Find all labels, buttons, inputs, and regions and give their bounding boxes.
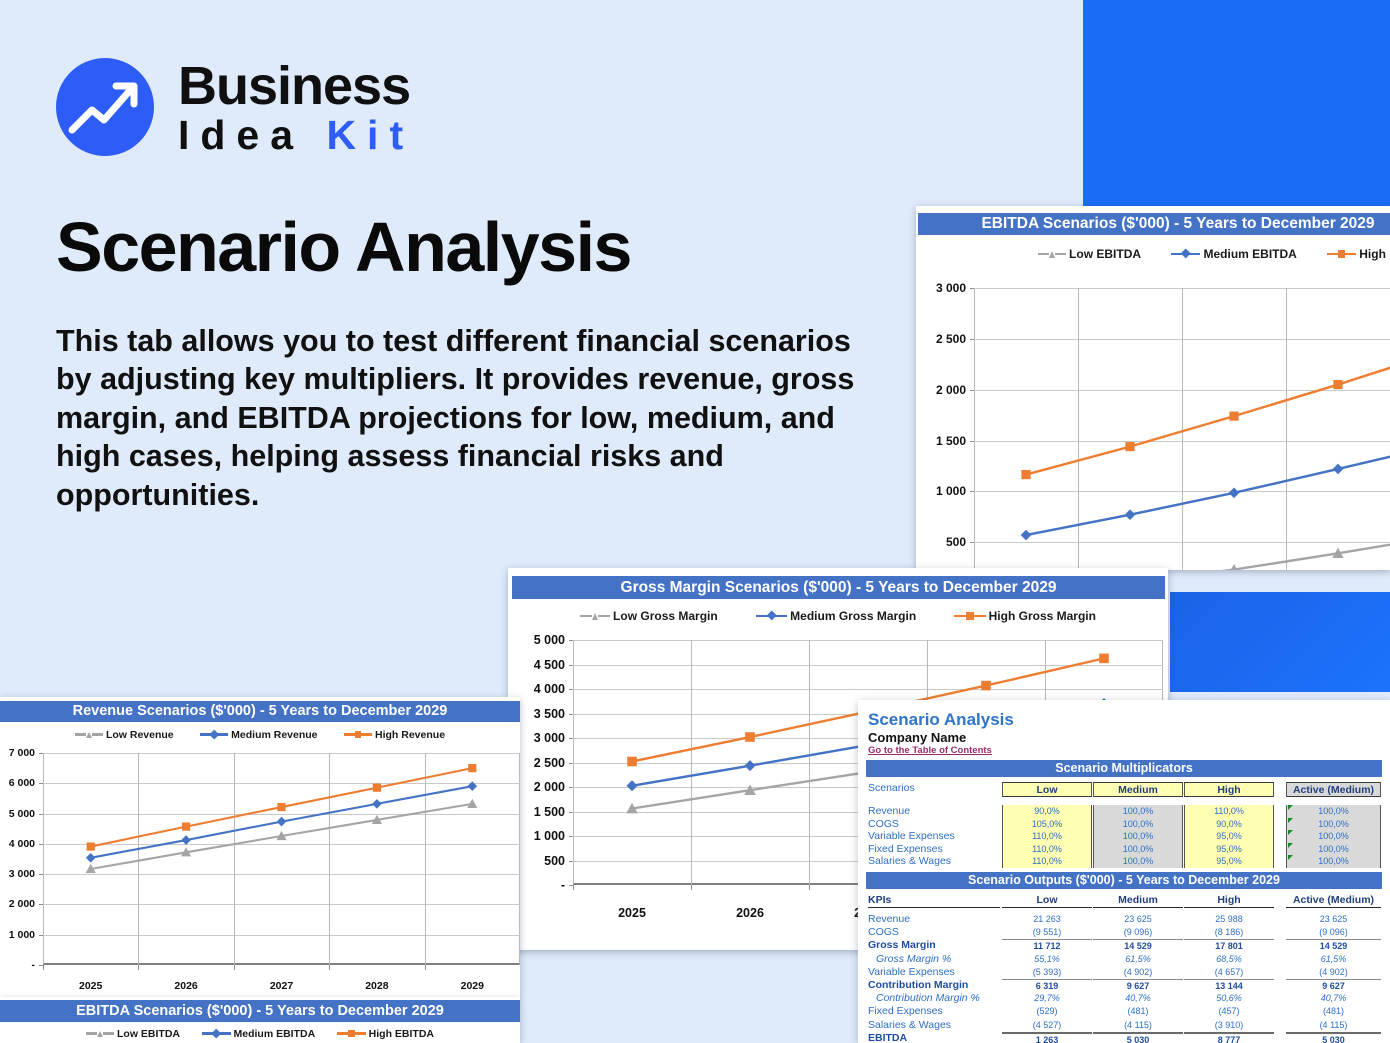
chart-legend: Low EBITDAMedium EBITDAHigh EBITDA [20, 1026, 500, 1041]
chart-title: EBITDA Scenarios ($'000) - 5 Years to De… [918, 213, 1390, 235]
output-cell-medium: (481) [1093, 1005, 1183, 1018]
kpis-label: KPIs [868, 894, 1000, 908]
output-cell-high: 25 988 [1184, 913, 1274, 926]
x-axis-tick [691, 885, 692, 890]
chart-panel-revenue: Revenue Scenarios ($'000) - 5 Years to D… [0, 697, 520, 997]
multiplier-cell-active: 100,0% [1286, 843, 1381, 856]
multiplier-cell-low[interactable]: 110,0% [1002, 843, 1092, 856]
y-axis-tick-label: 3 000 [918, 281, 966, 295]
x-axis-tick [573, 885, 574, 890]
sheet-company-name: Company Name [868, 730, 966, 745]
row-label: COGS [868, 926, 899, 939]
output-cell-high: (8 186) [1184, 926, 1274, 939]
table-row: Contribution Margin %29,7%40,7%50,6%40,7… [858, 992, 1390, 1005]
output-cell-medium: 5 030 [1093, 1032, 1183, 1043]
multiplier-cell-high[interactable]: 90,0% [1184, 818, 1274, 831]
output-cell-active: 14 529 [1286, 939, 1381, 953]
scenario-outputs-band: Scenario Outputs ($'000) - 5 Years to De… [866, 872, 1382, 889]
x-axis-tick-label: 2029 [461, 980, 484, 992]
row-label: COGS [868, 818, 899, 831]
legend-label: High EBITDA [369, 1028, 434, 1040]
y-axis-tick-label: 2 000 [918, 383, 966, 397]
column-header-high: High [1184, 894, 1274, 908]
output-cell-medium: 61,5% [1093, 953, 1183, 966]
table-row: Variable Expenses110,0%100,0%95,0%100,0% [858, 830, 1390, 843]
row-label: Gross Margin [868, 939, 936, 952]
table-of-contents-link[interactable]: Go to the Table of Contents [868, 745, 992, 756]
row-label: Contribution Margin % [876, 992, 980, 1005]
table-row: Fixed Expenses(529)(481)(457)(481) [858, 1005, 1390, 1018]
legend-line-swatch [103, 1032, 114, 1035]
scenario-analysis-sheet: Scenario Analysis Company Name Go to the… [858, 700, 1390, 1043]
decor-block-middle-right [1170, 592, 1390, 692]
legend-item: Medium Gross Margin [756, 609, 916, 623]
legend-line-swatch [1327, 253, 1338, 256]
y-axis-tick-label: 4 000 [2, 838, 35, 850]
scenarios-label: Scenarios [868, 782, 915, 795]
chart-plot-area: -5001 0001 5002 0002 5003 00020252026202… [974, 288, 1390, 570]
multiplier-cell-high[interactable]: 95,0% [1184, 843, 1274, 856]
table-row: Variable Expenses(5 393)(4 902)(4 657)(4… [858, 966, 1390, 979]
y-axis-tick-label: 2 500 [918, 332, 966, 346]
output-cell-low: 29,7% [1002, 992, 1092, 1005]
table-header-row: ScenariosLowMediumHighActive (Medium) [858, 782, 1390, 799]
output-cell-high: 50,6% [1184, 992, 1274, 1005]
legend-label: High EBITDA [1359, 247, 1390, 261]
legend-line-swatch [92, 733, 103, 736]
legend-item: Low EBITDA [86, 1028, 180, 1040]
table-row: COGS(9 551)(9 096)(8 186)(9 096) [858, 926, 1390, 939]
legend-marker-diamond [212, 1029, 221, 1038]
y-axis-tick-label: 6 000 [2, 777, 35, 789]
output-cell-high: 17 801 [1184, 939, 1274, 953]
output-cell-high: (457) [1184, 1005, 1274, 1018]
y-axis-tick-label: 4 000 [510, 682, 565, 696]
column-header-low: Low [1002, 894, 1092, 908]
column-header-low: Low [1002, 782, 1092, 797]
legend-marker-diamond [766, 611, 777, 622]
page-title: Scenario Analysis [56, 207, 631, 287]
legend-item: Low Gross Margin [580, 609, 718, 623]
legend-marker-square [966, 612, 973, 619]
x-axis-tick [43, 965, 44, 970]
output-cell-low: 21 263 [1002, 913, 1092, 926]
legend-item: Medium EBITDA [1171, 247, 1297, 261]
y-axis-tick-label: 3 000 [2, 868, 35, 880]
legend-line-swatch [598, 615, 610, 618]
y-axis-tick-label: 500 [918, 535, 966, 549]
x-axis-tick [329, 965, 330, 970]
column-header-medium: Medium [1093, 782, 1183, 797]
y-axis-tick-label: 1 500 [918, 434, 966, 448]
legend-item: High Gross Margin [954, 609, 1096, 623]
legend-line-swatch [355, 1032, 366, 1035]
multiplier-cell-medium[interactable]: 100,0% [1093, 843, 1183, 856]
chart-legend: Low EBITDAMedium EBITDAHigh EBITDA [956, 246, 1390, 262]
legend-marker-diamond [1181, 249, 1192, 260]
chart-series-layer [43, 753, 520, 965]
decor-block-top-right [1083, 0, 1390, 206]
output-cell-high: 68,5% [1184, 953, 1274, 966]
legend-line-swatch [1055, 253, 1066, 256]
x-axis-tick-label: 2025 [618, 906, 646, 920]
output-cell-medium: 9 627 [1093, 979, 1183, 993]
page-description: This tab allows you to test different fi… [56, 322, 856, 514]
brand-logo: Business Idea Kit [56, 58, 414, 156]
output-cell-high: (4 657) [1184, 966, 1274, 979]
legend-label: Medium EBITDA [1203, 247, 1296, 261]
row-label: Salaries & Wages [868, 855, 951, 868]
legend-label: Low EBITDA [117, 1028, 180, 1040]
legend-line-swatch [344, 733, 355, 736]
x-axis-tick [425, 965, 426, 970]
output-cell-medium: 40,7% [1093, 992, 1183, 1005]
row-label: Gross Margin % [876, 953, 951, 966]
y-axis-tick-label: 5 000 [2, 808, 35, 820]
row-label: Salaries & Wages [868, 1019, 951, 1032]
x-axis-tick-label: 2025 [79, 980, 102, 992]
output-cell-high: 8 777 [1184, 1032, 1274, 1043]
chart-title: EBITDA Scenarios ($'000) - 5 Years to De… [0, 1000, 520, 1022]
output-cell-medium: (4 902) [1093, 966, 1183, 979]
multiplier-cell-medium[interactable]: 100,0% [1093, 818, 1183, 831]
multiplier-cell-low[interactable]: 110,0% [1002, 855, 1092, 868]
x-axis-tick-label: 2027 [270, 980, 293, 992]
output-cell-high: 13 144 [1184, 979, 1274, 993]
legend-label: Low EBITDA [1069, 247, 1141, 261]
legend-item: Low EBITDA [1038, 247, 1141, 261]
chart-legend: Low RevenueMedium RevenueHigh Revenue [20, 727, 500, 742]
legend-line-swatch [1345, 253, 1356, 256]
output-cell-high: (3 910) [1184, 1019, 1274, 1032]
table-row: Fixed Expenses110,0%100,0%95,0%100,0% [858, 843, 1390, 856]
column-header-active: Active (Medium) [1286, 782, 1381, 797]
table-row: Revenue21 26323 62525 98823 625 [858, 913, 1390, 926]
output-cell-active: 9 627 [1286, 979, 1381, 993]
x-axis-tick-label: 2026 [174, 980, 197, 992]
multiplier-cell-active: 100,0% [1286, 818, 1381, 831]
legend-item: Low Revenue [75, 729, 174, 741]
legend-line-swatch [954, 615, 966, 618]
legend-line-swatch [86, 1032, 97, 1035]
x-axis-tick [234, 965, 235, 970]
legend-marker-diamond [209, 730, 218, 739]
y-axis-tick-label: 1 000 [918, 484, 966, 498]
x-axis-tick-label: 2028 [365, 980, 388, 992]
y-axis-tick-label: 7 000 [2, 747, 35, 759]
x-axis-tick [809, 885, 810, 890]
table-row: Revenue90,0%100,0%110,0%100,0% [858, 805, 1390, 818]
chart-panel-ebitda-top: EBITDA Scenarios ($'000) - 5 Years to De… [916, 206, 1390, 570]
output-cell-active: (9 096) [1286, 926, 1381, 939]
legend-label: High Revenue [375, 729, 445, 741]
legend-line-swatch [75, 733, 86, 736]
table-row: Gross Margin %55,1%61,5%68,5%61,5% [858, 953, 1390, 966]
output-cell-active: (4 115) [1286, 1019, 1381, 1032]
output-cell-medium: 14 529 [1093, 939, 1183, 953]
table-row: COGS105,0%100,0%90,0%100,0% [858, 818, 1390, 831]
multiplier-cell-low[interactable]: 90,0% [1002, 805, 1092, 818]
output-cell-low: (5 393) [1002, 966, 1092, 979]
scenario-multiplicators-table: ScenariosLowMediumHighActive (Medium)Rev… [858, 782, 1390, 868]
output-cell-low: 11 712 [1002, 939, 1092, 953]
scenario-outputs-table: KPIsLowMediumHighActive (Medium)Revenue2… [858, 894, 1390, 1043]
row-label: Fixed Expenses [868, 1005, 943, 1018]
legend-line-swatch [361, 733, 372, 736]
output-cell-active: 5 030 [1286, 1032, 1381, 1043]
scenario-multiplicators-band: Scenario Multiplicators [866, 760, 1382, 777]
legend-line-swatch [580, 615, 592, 618]
legend-label: Low Revenue [106, 729, 174, 741]
chart-panel-ebitda-bottom: EBITDA Scenarios ($'000) - 5 Years to De… [0, 997, 520, 1043]
legend-item: High EBITDA [337, 1028, 434, 1040]
multiplier-cell-high[interactable]: 95,0% [1184, 855, 1274, 868]
output-cell-medium: (9 096) [1093, 926, 1183, 939]
legend-item: Medium EBITDA [202, 1028, 315, 1040]
growth-arrow-icon [56, 58, 154, 156]
legend-line-swatch [1038, 253, 1049, 256]
x-axis-tick [138, 965, 139, 970]
legend-label: Medium Gross Margin [790, 609, 916, 623]
chart-title: Revenue Scenarios ($'000) - 5 Years to D… [0, 701, 520, 722]
multiplier-cell-active: 100,0% [1286, 830, 1381, 843]
output-cell-low: 6 319 [1002, 979, 1092, 993]
legend-item: High EBITDA [1327, 247, 1390, 261]
table-row: Salaries & Wages(4 527)(4 115)(3 910)(4 … [858, 1019, 1390, 1032]
row-label: EBITDA [868, 1032, 907, 1043]
table-row: EBITDA1 2635 0308 7775 030 [858, 1032, 1390, 1043]
multiplier-cell-high[interactable]: 110,0% [1184, 805, 1274, 818]
legend-label: High Gross Margin [989, 609, 1096, 623]
legend-marker-square [1338, 250, 1345, 257]
legend-item: High Revenue [344, 729, 446, 741]
legend-line-swatch [974, 615, 986, 618]
brand-idea-text: Idea [178, 112, 326, 158]
table-row: Gross Margin11 71214 52917 80114 529 [858, 939, 1390, 952]
column-header-high: High [1184, 782, 1274, 797]
row-label: Variable Expenses [868, 966, 955, 979]
multiplier-cell-medium[interactable]: 100,0% [1093, 830, 1183, 843]
column-header-medium: Medium [1093, 894, 1183, 908]
sheet-title: Scenario Analysis [868, 710, 1014, 730]
row-label: Revenue [868, 805, 910, 818]
chart-series-layer [974, 288, 1390, 570]
chart-title: Gross Margin Scenarios ($'000) - 5 Years… [512, 576, 1165, 599]
output-cell-low: 1 263 [1002, 1032, 1092, 1043]
output-cell-medium: 23 625 [1093, 913, 1183, 926]
multiplier-cell-active: 100,0% [1286, 855, 1381, 868]
output-cell-medium: (4 115) [1093, 1019, 1183, 1032]
legend-label: Low Gross Margin [613, 609, 718, 623]
chart-plot-area: -1 0002 0003 0004 0005 0006 0007 0002025… [43, 753, 520, 965]
output-cell-active: (4 902) [1286, 966, 1381, 979]
output-cell-active: 23 625 [1286, 913, 1381, 926]
brand-kit-text: Kit [326, 112, 414, 158]
output-cell-low: (529) [1002, 1005, 1092, 1018]
table-row: Contribution Margin6 3199 62713 1449 627 [858, 979, 1390, 992]
output-cell-active: (481) [1286, 1005, 1381, 1018]
legend-label: Medium Revenue [231, 729, 317, 741]
chart-legend: Low Gross MarginMedium Gross MarginHigh … [568, 608, 1108, 624]
y-axis-tick-label: 4 500 [510, 658, 565, 672]
multiplier-cell-high[interactable]: 95,0% [1184, 830, 1274, 843]
legend-line-swatch [337, 1032, 348, 1035]
brand-name-line1: Business [178, 59, 414, 113]
output-cell-active: 61,5% [1286, 953, 1381, 966]
legend-label: Medium EBITDA [234, 1028, 316, 1040]
table-header-row: KPIsLowMediumHighActive (Medium) [858, 894, 1390, 909]
multiplier-cell-medium[interactable]: 100,0% [1093, 855, 1183, 868]
row-label: Fixed Expenses [868, 843, 943, 856]
row-label: Variable Expenses [868, 830, 955, 843]
column-header-active: Active (Medium) [1286, 894, 1381, 908]
output-cell-low: (4 527) [1002, 1019, 1092, 1032]
row-label: Revenue [868, 913, 910, 926]
brand-name-line2: Idea Kit [178, 115, 414, 156]
multiplier-cell-low[interactable]: 110,0% [1002, 830, 1092, 843]
y-axis-tick-label: - [2, 959, 35, 971]
output-cell-low: 55,1% [1002, 953, 1092, 966]
x-axis-tick-label: 2026 [736, 906, 764, 920]
output-cell-active: 40,7% [1286, 992, 1381, 1005]
legend-item: Medium Revenue [200, 729, 318, 741]
table-row: Salaries & Wages110,0%100,0%95,0%100,0% [858, 855, 1390, 868]
multiplier-cell-low[interactable]: 105,0% [1002, 818, 1092, 831]
y-axis-tick-label: 2 000 [2, 898, 35, 910]
y-axis-tick-label: 1 000 [2, 929, 35, 941]
multiplier-cell-medium[interactable]: 100,0% [1093, 805, 1183, 818]
multiplier-cell-active: 100,0% [1286, 805, 1381, 818]
output-cell-low: (9 551) [1002, 926, 1092, 939]
y-axis-tick-label: 5 000 [510, 633, 565, 647]
row-label: Contribution Margin [868, 979, 968, 992]
